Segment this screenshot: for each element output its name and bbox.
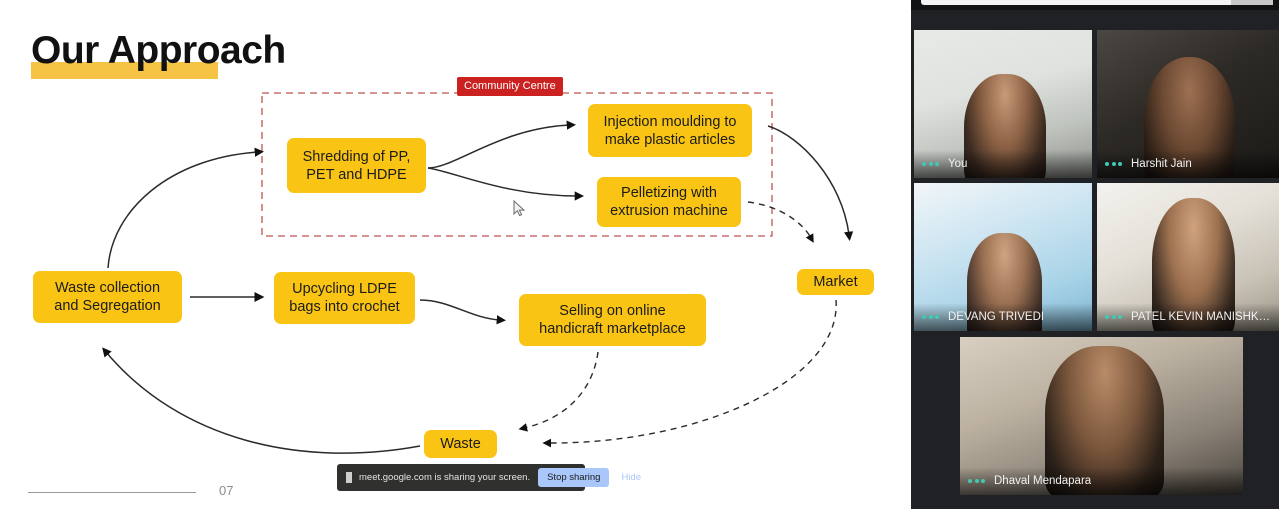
- node-selling-online: Selling on online handicraft marketplace: [519, 294, 706, 346]
- page-title: Our Approach: [31, 29, 286, 73]
- mouse-cursor-icon: [513, 200, 527, 218]
- audio-indicator-icon: [968, 479, 985, 483]
- participant-name: Dhaval Mendapara: [994, 475, 1091, 487]
- community-centre-label: Community Centre: [457, 77, 563, 96]
- audio-indicator-icon: [1105, 162, 1122, 166]
- share-status-text: meet.google.com is sharing your screen.: [359, 472, 530, 483]
- participant-tile-devang-trivedi[interactable]: DEVANG TRIVEDI: [914, 183, 1092, 331]
- audio-indicator-icon: [922, 162, 939, 166]
- participant-namebar: DEVANG TRIVEDI: [914, 303, 1092, 331]
- participant-name: Harshit Jain: [1131, 158, 1192, 170]
- participant-name: DEVANG TRIVEDI: [948, 311, 1044, 323]
- participant-tile-you[interactable]: You: [914, 30, 1092, 178]
- participant-name: You: [948, 158, 967, 170]
- node-upcycling-ldpe: Upcycling LDPE bags into crochet: [274, 272, 415, 324]
- node-market: Market: [797, 269, 874, 295]
- node-pelletizing: Pelletizing with extrusion machine: [597, 177, 741, 227]
- browser-chrome-strip: [921, 0, 1251, 5]
- participant-tile-harshit-jain[interactable]: Harshit Jain: [1097, 30, 1279, 178]
- participant-tile-patel-kevin[interactable]: PATEL KEVIN MANISHK…: [1097, 183, 1279, 331]
- meet-top-strip: [911, 0, 1279, 10]
- audio-indicator-icon: [922, 315, 939, 319]
- participant-namebar: You: [914, 150, 1092, 178]
- window-controls[interactable]: [1231, 0, 1273, 5]
- stop-sharing-button[interactable]: Stop sharing: [538, 468, 609, 487]
- participant-name: PATEL KEVIN MANISHK…: [1131, 311, 1270, 323]
- node-shredding: Shredding of PP, PET and HDPE: [287, 138, 426, 193]
- participant-namebar: Harshit Jain: [1097, 150, 1279, 178]
- shared-slide: Our Approach: [0, 0, 911, 509]
- participant-tile-dhaval-mendapara[interactable]: Dhaval Mendapara: [960, 337, 1243, 495]
- hide-button[interactable]: Hide: [617, 468, 645, 487]
- screen-share-bar: meet.google.com is sharing your screen. …: [337, 464, 585, 491]
- screen: Our Approach: [0, 0, 1279, 509]
- participant-namebar: Dhaval Mendapara: [960, 467, 1243, 495]
- node-waste: Waste: [424, 430, 497, 458]
- participant-namebar: PATEL KEVIN MANISHK…: [1097, 303, 1279, 331]
- node-waste-collection: Waste collection and Segregation: [33, 271, 182, 323]
- meet-participants-panel: You Harshit Jain DEVANG TRIVEDI PATEL KE…: [911, 0, 1279, 509]
- pause-icon[interactable]: [346, 472, 352, 483]
- audio-indicator-icon: [1105, 315, 1122, 319]
- node-injection-moulding: Injection moulding to make plastic artic…: [588, 104, 752, 157]
